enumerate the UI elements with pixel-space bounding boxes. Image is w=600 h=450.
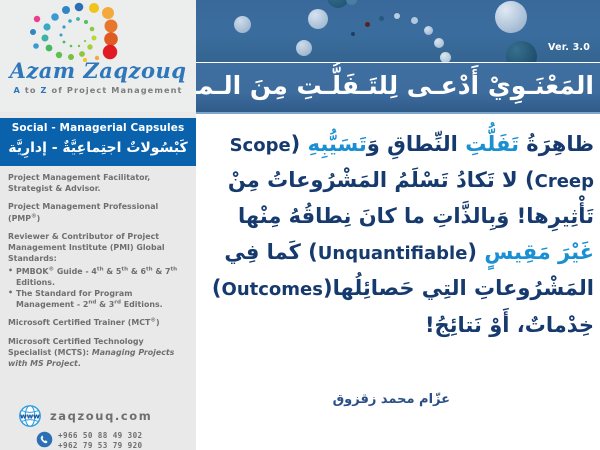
credential-item: Project Management Facilitator, Strategi… (8, 172, 188, 194)
decor-bubble (346, 0, 357, 5)
body-paragraph: ظاهِرَةُ تَفَلُّتِ النِّطاقِ وَتَسَيُّبِ… (202, 126, 594, 343)
text-run: المَشْرُوعاتِ التِي حَصائِلُها( (323, 276, 594, 300)
page-title: المَعْنَـوِيْ أَدْعـى لِلتَـفَلُّـتِ مِن… (196, 67, 594, 106)
credential-bullets: PMBOK® Guide - 4th & 5th & 6th & 7th Edi… (8, 266, 188, 311)
text-run: ظاهِرَةُ (519, 132, 594, 156)
brand-block: Azam Zaqzouq A to Z of Project Managemen… (0, 0, 196, 112)
paragraph-line: غَيْرَ مَقِيسٍ (Unquantifiable) كَما فِي (202, 234, 594, 270)
decor-bubble (440, 52, 451, 62)
title-bar: المَعْنَـوِيْ أَدْعـى لِلتَـفَلُّـتِ مِن… (196, 63, 600, 112)
tagline-z: Z (41, 85, 48, 95)
capsule-header-english: Social - Managerial Capsules (0, 122, 196, 134)
decor-bubble (424, 26, 433, 35)
decor-bubble (296, 40, 312, 56)
svg-text:www: www (20, 412, 40, 421)
text-run: تَأْثِيرِها! وَبِالذَّاتِ ما كانَ نِطاقُ… (238, 204, 594, 228)
colored-dot-spiral-logo (16, 2, 176, 62)
list-item: The Standard for Program Management - 2n… (8, 288, 188, 310)
paragraph-line: Creep) لا تَكادُ تَسْلَمُ المَشْرُوعاتُ … (202, 162, 594, 198)
list-item: PMBOK® Guide - 4th & 5th & 6th & 7th Edi… (8, 266, 188, 288)
credential-text: Microsoft Certified Technology Specialis… (8, 336, 188, 370)
text-run: النِّطاقِ وَ (367, 132, 465, 156)
credential-text: Project Management Facilitator, Strategi… (8, 172, 188, 194)
capsule-header-arabic: كَبْسُولاتٌ اجتِماعِيَّةٌ - إدارِيَّة (0, 140, 196, 156)
credential-text: Project Management Professional (PMP®) (8, 201, 188, 223)
credentials-list: Project Management Facilitator, Strategi… (8, 172, 188, 376)
latin-term: Outcomes (222, 279, 323, 300)
decor-bubble (495, 1, 527, 33)
main-content: ظاهِرَةُ تَفَلُّتِ النِّطاقِ وَتَسَيُّبِ… (196, 114, 600, 450)
credential-item: Microsoft Certified Trainer (MCT®) (8, 317, 188, 328)
credential-item: Microsoft Certified Technology Specialis… (8, 336, 188, 370)
tagline-a: A (13, 85, 20, 95)
text-run: ) كَما فِي (224, 240, 317, 264)
version-label: Ver. 3.0 (548, 42, 590, 53)
text-run: خِدْماتٌ، أَوْ نَتائِجُ! (425, 313, 594, 337)
phone-number: +962 79 53 79 920 (58, 441, 143, 450)
highlighted-term: تَفَلُّتِ (465, 132, 519, 156)
tagline-mid: to (21, 85, 41, 95)
paragraph-line: تَأْثِيرِها! وَبِالذَّاتِ ما كانَ نِطاقُ… (202, 198, 594, 234)
decor-bubble (365, 22, 370, 27)
credential-text: Reviewer & Contributor of Project Manage… (8, 231, 188, 265)
credential-item: Project Management Professional (PMP®) (8, 201, 188, 223)
text-run: ( (467, 240, 484, 264)
latin-term: Creep (535, 171, 594, 192)
phone-number: +966 50 88 49 302 (58, 431, 143, 441)
highlighted-term: غَيْرَ مَقِيسٍ (484, 240, 594, 264)
decor-bubble (351, 32, 355, 36)
globe-www-icon: www (18, 404, 42, 428)
paragraph-line: المَشْرُوعاتِ التِي حَصائِلُها(Outcomes) (202, 270, 594, 306)
decor-bubble (394, 13, 400, 19)
decor-bubble (234, 16, 251, 33)
text-run: ) (212, 276, 222, 300)
paragraph-line: ظاهِرَةُ تَفَلُّتِ النِّطاقِ وَتَسَيُّبِ… (202, 126, 594, 162)
credential-text: Microsoft Certified Trainer (MCT®) (8, 317, 188, 328)
phone-icon (36, 431, 53, 448)
brand-name: Azam Zaqzouq (8, 58, 188, 83)
latin-term: Scope (230, 135, 291, 156)
phone-row: +966 50 88 49 302+962 79 53 79 920 (36, 430, 196, 450)
decor-bubble (506, 41, 537, 62)
capsule-header: Social - Managerial Capsules كَبْسُولاتٌ… (0, 118, 196, 166)
website-row[interactable]: www zaqzouq.com (12, 404, 192, 430)
text-run: ( (291, 132, 308, 156)
decor-bubble (434, 38, 444, 48)
latin-term: Unquantifiable (318, 243, 468, 264)
decor-bubble (308, 9, 328, 29)
paragraph-line: خِدْماتٌ، أَوْ نَتائِجُ! (202, 307, 594, 343)
decor-bubble (411, 17, 418, 24)
brand-tagline: A to Z of Project Management (8, 85, 188, 95)
tagline-rest: of Project Management (48, 85, 183, 95)
signature: عزّام محمد زقزوق (333, 392, 450, 407)
text-run: ) لا تَكادُ تَسْلَمُ المَشْرُوعاتُ مِنْ (228, 168, 535, 192)
slide-root: Azam Zaqzouq A to Z of Project Managemen… (0, 0, 600, 450)
header-banner: Ver. 3.0 (196, 0, 600, 62)
highlighted-term: تَسَيُّبِهِ (308, 132, 367, 156)
website-url[interactable]: zaqzouq.com (50, 409, 152, 423)
credential-item: Reviewer & Contributor of Project Manage… (8, 231, 188, 311)
phone-numbers: +966 50 88 49 302+962 79 53 79 920 (58, 431, 143, 450)
decor-bubble (379, 16, 384, 21)
sidebar: Azam Zaqzouq A to Z of Project Managemen… (0, 0, 196, 450)
